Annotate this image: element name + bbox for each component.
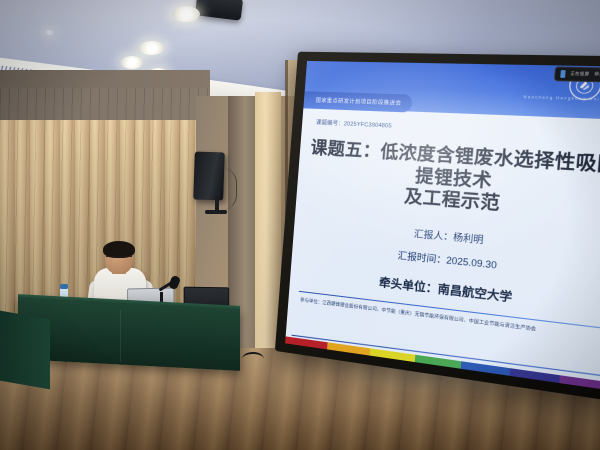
- large-wall-display[interactable]: 南 Nanchang Hangkong University 正在投屏 停止投屏…: [274, 52, 600, 415]
- glasses-icon: [106, 256, 132, 262]
- downlight-1: [172, 6, 200, 22]
- project-number: 课题编号：2025YFC3904805: [316, 118, 392, 130]
- stop-cast-button[interactable]: 停止投屏: [594, 72, 600, 78]
- accent-bar-6: [509, 368, 560, 383]
- presenter-table: [18, 297, 240, 371]
- downlight-2: [139, 41, 164, 55]
- downlight-3: [121, 56, 143, 69]
- display-bezel: 南 Nanchang Hangkong University 正在投屏 停止投屏…: [275, 52, 600, 403]
- water-bottle-cap: [60, 284, 68, 289]
- conference-room-scene: 南 Nanchang Hangkong University 正在投屏 停止投屏…: [0, 0, 600, 450]
- side-table: [0, 311, 50, 390]
- cast-status-label[interactable]: 正在投屏: [570, 71, 590, 77]
- table-cloth-fold: [120, 310, 121, 362]
- screen-cast-toolbar[interactable]: 正在投屏 停止投屏 ✕: [554, 67, 600, 83]
- display-panel: 南 Nanchang Hangkong University 正在投屏 停止投屏…: [285, 61, 600, 391]
- slide-title: 课题五：低浓度含锂废水选择性吸附提锂技术 及工程示范: [306, 138, 600, 225]
- slide-ribbon-banner: 国家重点研发计划项目阶段推进会: [301, 91, 412, 112]
- speaker-arm: [205, 210, 227, 214]
- accent-bar-7: [560, 375, 600, 390]
- downlight-5: [45, 30, 54, 35]
- wall-speaker: [193, 151, 225, 200]
- cast-status-icon: [560, 70, 566, 78]
- floor-cables: [242, 352, 264, 366]
